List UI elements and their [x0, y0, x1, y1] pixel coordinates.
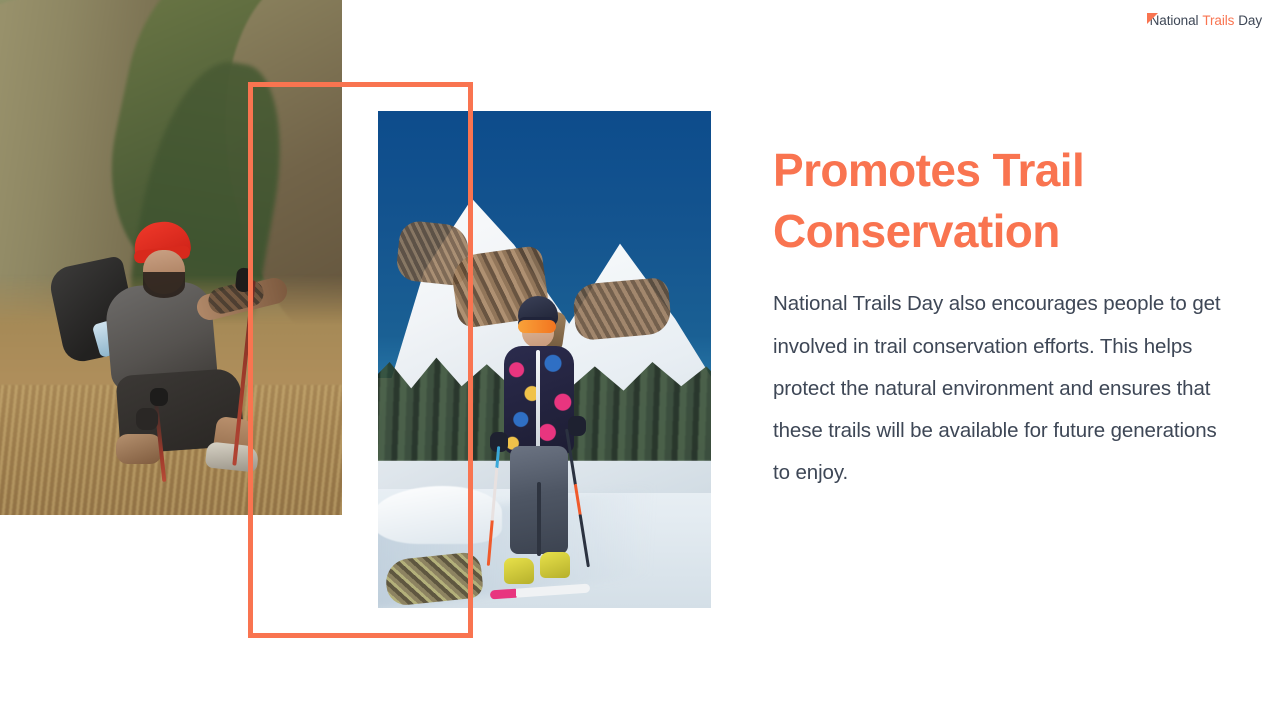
jacket-zipper [536, 350, 540, 450]
hiker-figure [46, 222, 276, 472]
skier-glove-right [568, 416, 586, 436]
ski-boot-left [504, 558, 534, 584]
skier-figure [484, 296, 614, 596]
text-column: Promotes Trail Conservation National Tra… [773, 140, 1233, 495]
trekking-pole-left-grip [150, 388, 168, 406]
hiker-knee [116, 434, 162, 464]
ski-pole-right [565, 429, 590, 568]
ski-boot-right [540, 552, 570, 578]
brand-logo[interactable]: National Trails Day [1147, 13, 1262, 28]
skier-snow-mountain-photo [378, 111, 711, 608]
slide-canvas: National Trails Day [0, 0, 1280, 720]
brand-word-trails: Trails [1202, 13, 1234, 28]
body-paragraph: National Trails Day also encourages peop… [773, 283, 1233, 494]
jeans-leg-split [537, 482, 541, 556]
hiker-beard [143, 272, 185, 298]
ski-pole-left [487, 446, 500, 566]
triangle-flag-icon [1147, 13, 1158, 28]
ski-goggles [518, 320, 556, 333]
skier-scene [378, 111, 711, 608]
hiker-glove [136, 408, 158, 430]
page-title: Promotes Trail Conservation [773, 140, 1233, 261]
brand-word-day: Day [1238, 13, 1262, 28]
orange-frame-right-edge [468, 82, 473, 638]
